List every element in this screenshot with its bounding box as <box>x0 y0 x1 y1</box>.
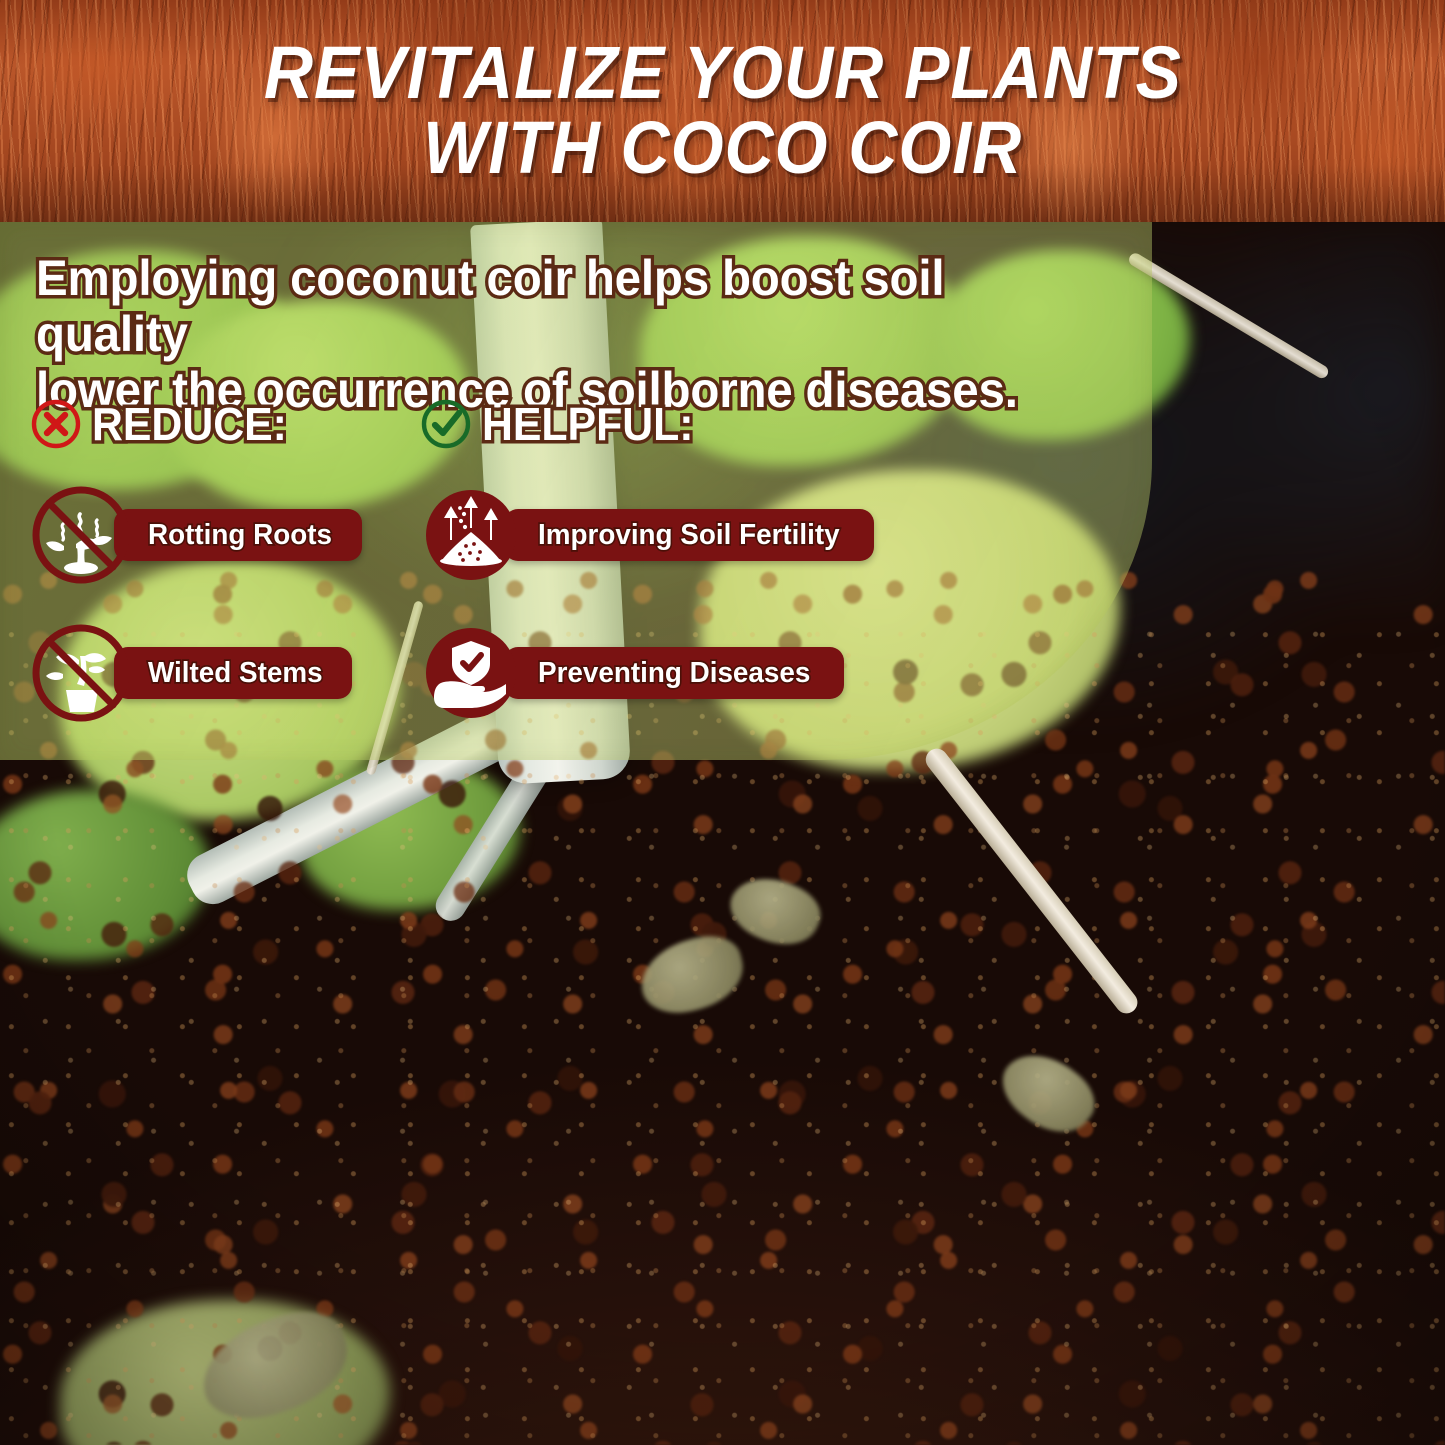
column-helpful-label: HELPFUL: <box>482 401 694 447</box>
wilted-plant-icon <box>30 622 132 724</box>
list-item[interactable]: Rotting Roots <box>30 484 362 586</box>
benefit-columns: REDUCE: <box>0 222 1152 760</box>
soil-mound-arrows-icon <box>420 484 522 586</box>
list-item-label: Wilted Stems <box>148 659 323 688</box>
hand-shield-check-icon <box>420 622 522 724</box>
infographic-canvas: REVITALIZE YOUR PLANTS WITH COCO COIR Em… <box>0 0 1445 1445</box>
helpful-item-pill: Preventing Diseases <box>504 647 844 699</box>
helpful-item-list: Improving Soil Fertility <box>420 484 874 724</box>
title-line-1: REVITALIZE YOUR PLANTS <box>264 37 1182 110</box>
reduce-item-list: Rotting Roots <box>30 484 362 724</box>
list-item[interactable]: Preventing Diseases <box>420 622 874 724</box>
title-block: REVITALIZE YOUR PLANTS WITH COCO COIR <box>0 0 1445 222</box>
list-item-label: Rotting Roots <box>148 521 332 550</box>
reduce-item-pill: Rotting Roots <box>114 509 362 561</box>
column-helpful: HELPFUL: <box>420 392 874 724</box>
header-banner: REVITALIZE YOUR PLANTS WITH COCO COIR <box>0 0 1445 222</box>
list-item-label: Improving Soil Fertility <box>538 521 840 550</box>
column-reduce-header: REDUCE: <box>30 392 362 456</box>
helpful-item-pill: Improving Soil Fertility <box>504 509 874 561</box>
circle-x-icon <box>30 398 82 450</box>
column-reduce-label: REDUCE: <box>92 401 287 447</box>
reduce-item-pill: Wilted Stems <box>114 647 352 699</box>
column-reduce: REDUCE: <box>30 392 362 724</box>
list-item[interactable]: Improving Soil Fertility <box>420 484 874 586</box>
circle-check-icon <box>420 398 472 450</box>
info-panel-content: Employing coconut coir helps boost soil … <box>0 222 1152 760</box>
list-item[interactable]: Wilted Stems <box>30 622 362 724</box>
list-item-label: Preventing Diseases <box>538 659 810 688</box>
title-line-2: WITH COCO COIR <box>423 112 1022 185</box>
column-helpful-header: HELPFUL: <box>420 392 874 456</box>
rotting-seedling-icon <box>30 484 132 586</box>
